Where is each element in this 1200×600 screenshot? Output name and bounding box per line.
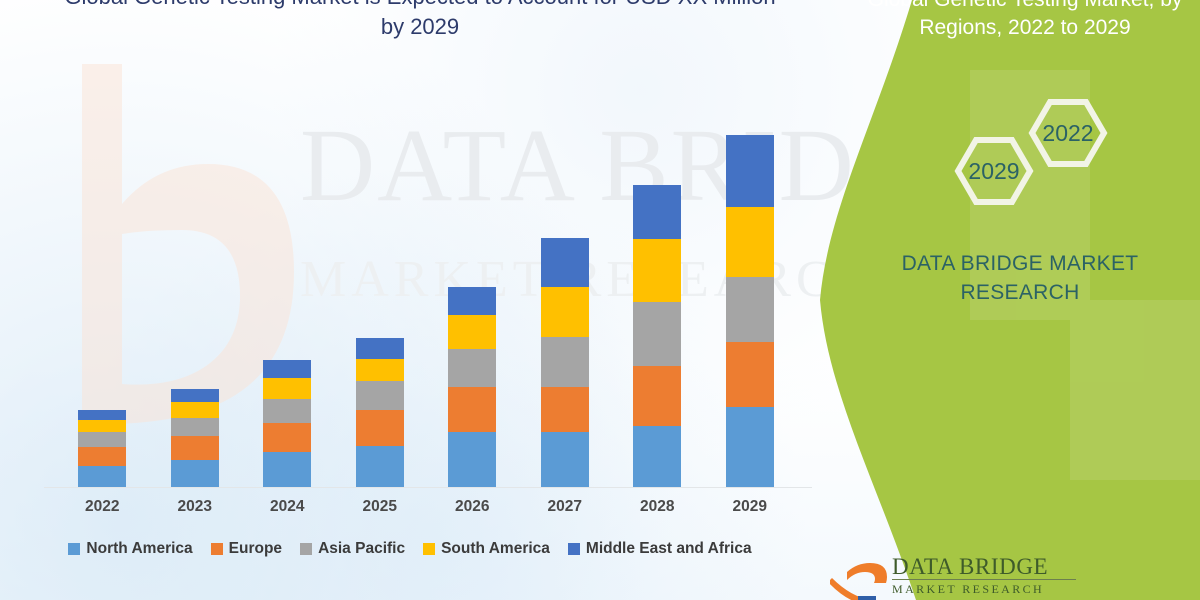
bar-segment-south-america [726,207,774,277]
legend-item-europe[interactable]: Europe [211,540,282,558]
legend-item-middle-east-and-africa[interactable]: Middle East and Africa [568,540,752,558]
bar-segment-middle-east-and-africa [78,410,126,420]
x-label-2027: 2027 [525,498,605,516]
legend-swatch-icon [423,543,435,555]
bar-segment-south-america [356,359,404,381]
bar-segment-europe [633,366,681,426]
logo-bridge-icon [830,548,888,600]
x-label-2024: 2024 [247,498,327,516]
legend-item-south-america[interactable]: South America [423,540,550,558]
bar-segment-north-america [633,426,681,488]
chart-legend: North AmericaEuropeAsia PacificSouth Ame… [0,540,820,558]
legend-item-asia-pacific[interactable]: Asia Pacific [300,540,405,558]
bar-segment-middle-east-and-africa [541,238,589,287]
bar-segment-south-america [541,287,589,337]
x-label-2023: 2023 [155,498,235,516]
panel-title: Global Genetic Testing Market, by Region… [860,0,1190,41]
bar-segment-europe [541,387,589,432]
bar-segment-europe [448,387,496,432]
bar-segment-middle-east-and-africa [633,185,681,239]
hexagon-group: 2022 2029 [918,88,1178,218]
brand-name: DATA BRIDGE MARKET RESEARCH [850,250,1190,308]
bar-segment-europe [356,410,404,446]
bar-2028[interactable] [633,185,681,488]
x-label-2025: 2025 [340,498,420,516]
x-label-2029: 2029 [710,498,790,516]
x-axis-labels: 20222023202420252026202720282029 [56,498,796,524]
page-title: Global Genetic Testing Market is Expecte… [60,0,780,43]
bar-segment-north-america [541,432,589,488]
bar-segment-north-america [78,466,126,488]
svg-text:2029: 2029 [968,158,1019,184]
bar-segment-middle-east-and-africa [171,389,219,402]
company-logo: DATA BRIDGE MARKET RESEARCH [830,548,1160,600]
right-green-panel: Global Genetic Testing Market, by Region… [820,0,1200,600]
bar-segment-asia-pacific [171,418,219,436]
bar-segment-asia-pacific [726,277,774,342]
bar-segment-asia-pacific [633,302,681,366]
logo-subtitle: MARKET RESEARCH [892,582,1044,597]
logo-rule [892,579,1076,580]
bar-2024[interactable] [263,360,311,488]
bar-segment-asia-pacific [448,349,496,387]
legend-label: Middle East and Africa [586,540,752,558]
bar-segment-asia-pacific [263,399,311,423]
logo-name: DATA BRIDGE [892,554,1048,580]
bar-segment-europe [263,423,311,452]
legend-swatch-icon [211,543,223,555]
x-label-2026: 2026 [432,498,512,516]
bar-segment-asia-pacific [541,337,589,387]
bar-segment-europe [726,342,774,407]
chart-area: Global Genetic Testing Market is Expecte… [0,0,840,600]
bar-segment-north-america [263,452,311,488]
legend-label: Asia Pacific [318,540,405,558]
bar-segment-europe [78,447,126,466]
stacked-bar-plot [56,110,796,488]
bar-segment-north-america [726,407,774,488]
legend-swatch-icon [568,543,580,555]
bar-segment-middle-east-and-africa [356,338,404,359]
x-label-2028: 2028 [617,498,697,516]
bar-segment-south-america [448,315,496,349]
bar-segment-middle-east-and-africa [263,360,311,378]
bar-segment-middle-east-and-africa [448,287,496,315]
bar-segment-north-america [356,446,404,488]
bar-2023[interactable] [171,389,219,488]
bar-segment-south-america [171,402,219,418]
brand-line-2: RESEARCH [850,279,1190,308]
legend-label: South America [441,540,550,558]
bar-segment-europe [171,436,219,460]
bar-segment-south-america [263,378,311,399]
legend-label: North America [86,540,192,558]
legend-label: Europe [229,540,282,558]
legend-item-north-america[interactable]: North America [68,540,192,558]
brand-line-1: DATA BRIDGE MARKET [850,250,1190,279]
bar-segment-asia-pacific [356,381,404,410]
svg-text:2022: 2022 [1042,120,1093,146]
bar-segment-south-america [78,420,126,432]
bar-segment-middle-east-and-africa [726,135,774,207]
x-label-2022: 2022 [62,498,142,516]
bar-2027[interactable] [541,238,589,488]
legend-swatch-icon [68,543,80,555]
bar-segment-asia-pacific [78,432,126,447]
legend-swatch-icon [300,543,312,555]
bar-segment-south-america [633,239,681,302]
bar-segment-north-america [171,460,219,488]
bar-2026[interactable] [448,287,496,488]
bar-segment-north-america [448,432,496,488]
bar-2029[interactable] [726,135,774,488]
bar-2022[interactable] [78,410,126,488]
x-axis-line [44,487,812,488]
bar-2025[interactable] [356,338,404,488]
